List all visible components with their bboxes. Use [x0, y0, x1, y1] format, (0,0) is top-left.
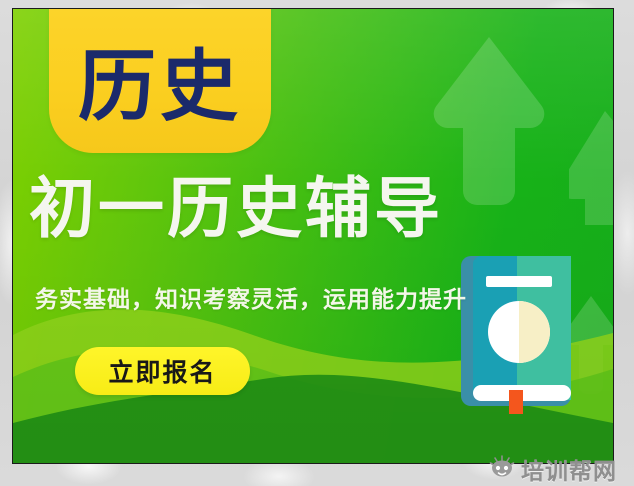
course-promo-banner: 历史 初一历史辅导 务实基础，知识考察灵活，运用能力提升 立即报名	[12, 8, 614, 464]
subject-badge: 历史	[49, 8, 271, 153]
book-icon	[459, 254, 575, 414]
enroll-now-button[interactable]: 立即报名	[75, 347, 250, 395]
watermark: 培训帮网	[489, 452, 617, 486]
enroll-now-button-label: 立即报名	[108, 353, 216, 389]
subtitle-text: 务实基础，知识考察灵活，运用能力提升	[35, 287, 467, 315]
smiley-eye-icon	[489, 455, 515, 484]
watermark-text: 培训帮网	[521, 452, 617, 486]
subject-badge-label: 历史	[78, 48, 242, 126]
page-title: 初一历史辅导	[29, 174, 569, 243]
